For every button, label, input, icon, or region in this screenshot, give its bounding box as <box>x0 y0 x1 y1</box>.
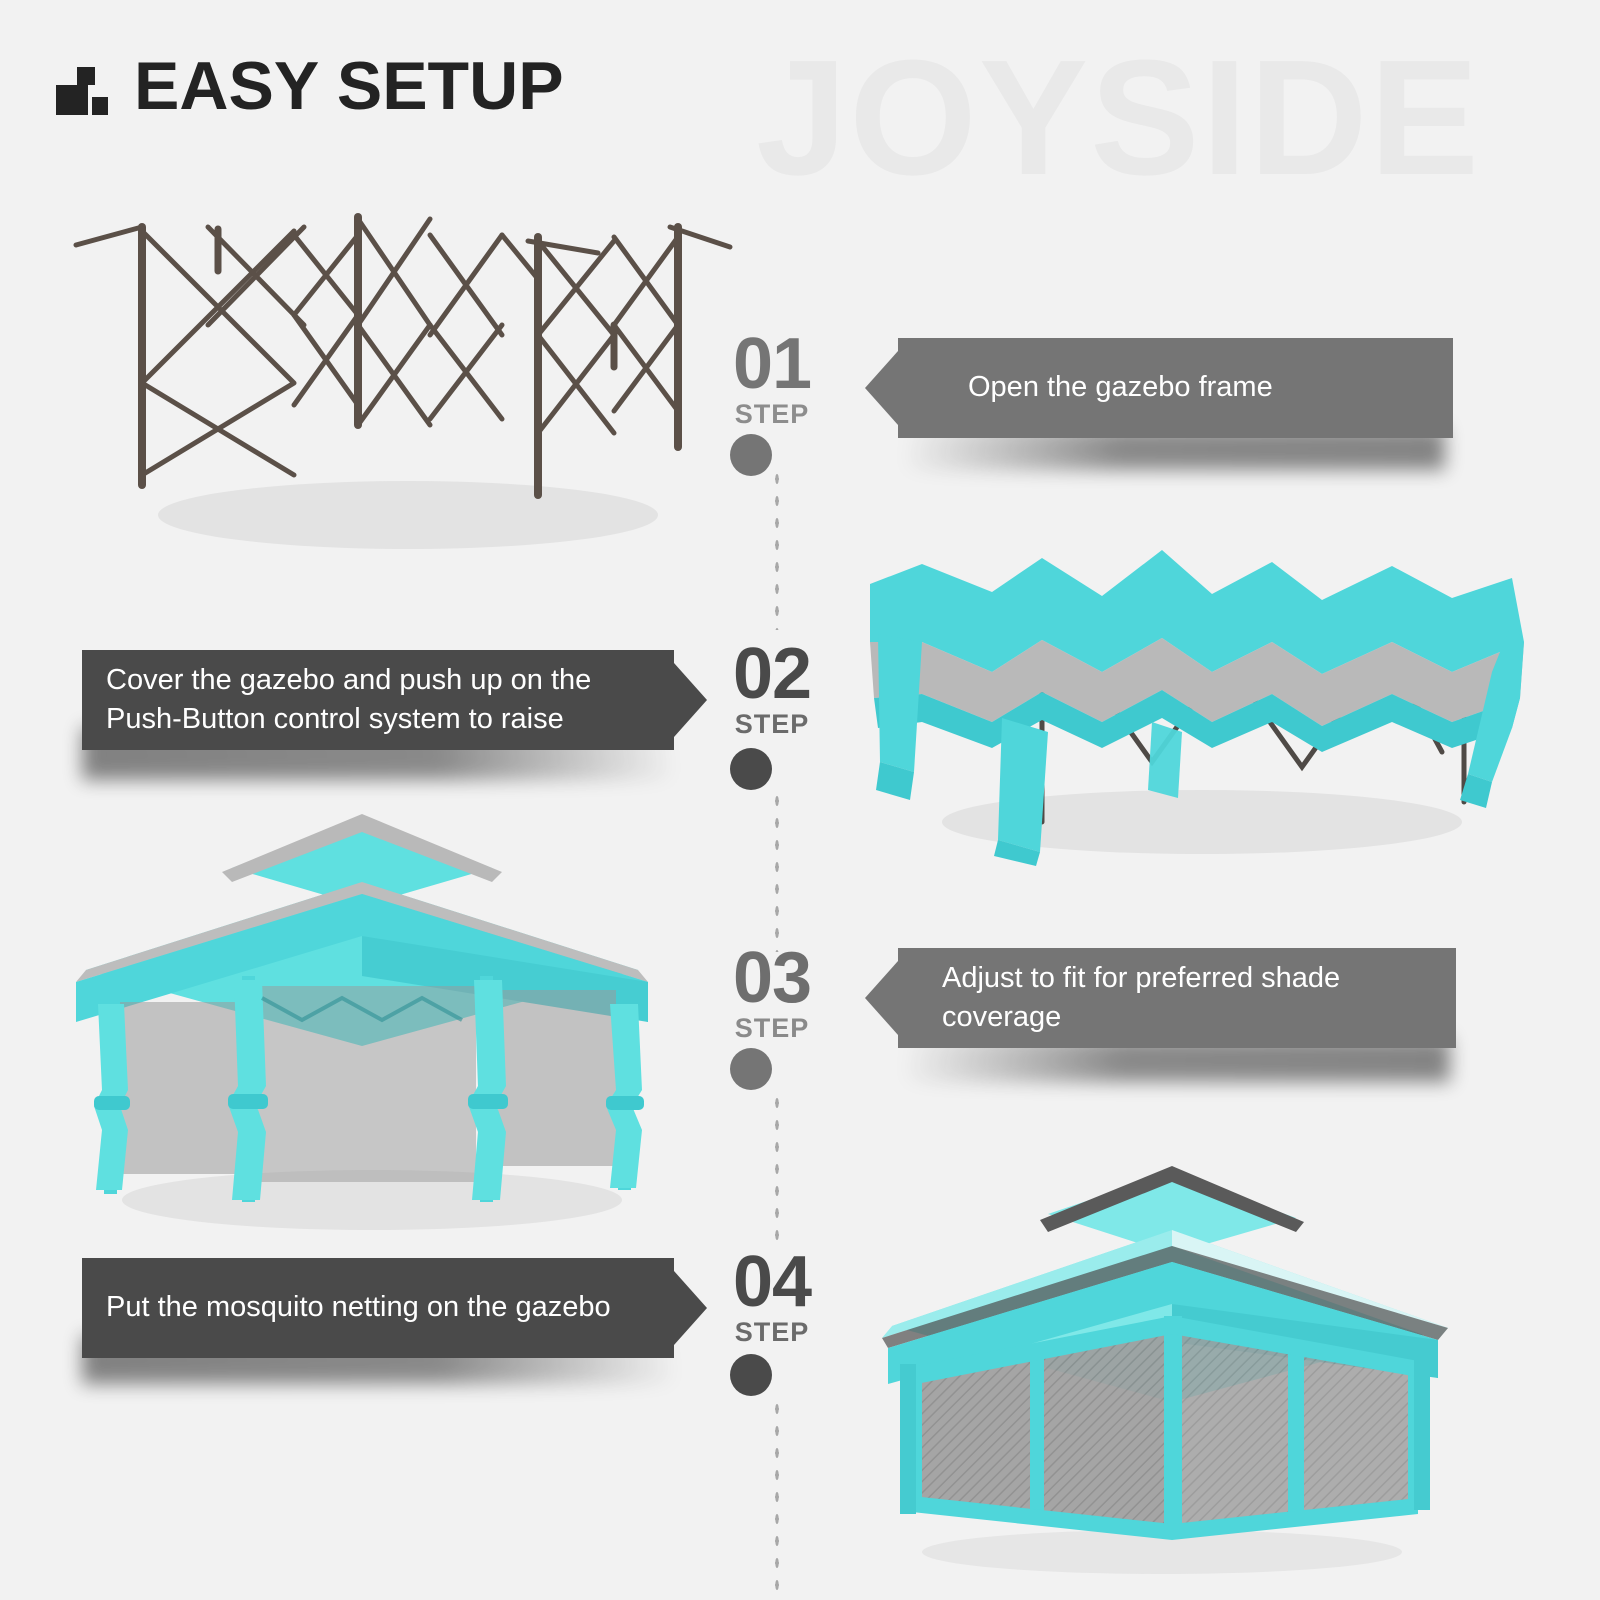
step-01-text: Open the gazebo frame <box>968 368 1273 407</box>
brand-watermark: JOYSIDE <box>756 36 1481 200</box>
step-01-number: 01 <box>702 330 842 398</box>
step-04-callout[interactable]: Put the mosquito netting on the gazebo <box>82 1258 674 1358</box>
step-02-callout[interactable]: Cover the gazebo and push up on the Push… <box>82 650 674 750</box>
step-02-text-line2: Push-Button control system to raise <box>106 703 564 735</box>
step-03-badge: 03 STEP <box>702 944 842 1046</box>
step-03-number: 03 <box>702 944 842 1012</box>
photo-gazebo-netting <box>852 1132 1472 1572</box>
step-03-arrow-icon <box>865 961 898 1035</box>
step-01-callout[interactable]: Open the gazebo frame <box>898 338 1453 438</box>
step-01-label: STEP <box>702 398 842 432</box>
step-04-text: Put the mosquito netting on the gazebo <box>106 1288 611 1327</box>
step-02-label: STEP <box>702 708 842 742</box>
page-header: EASY SETUP <box>56 52 564 120</box>
gazebo-frame-illustration <box>58 175 738 565</box>
step-03-callout[interactable]: Adjust to fit for preferred shade covera… <box>898 948 1456 1048</box>
step-04-badge: 04 STEP <box>702 1248 842 1350</box>
step-03-node <box>730 1048 772 1090</box>
step-04-node <box>730 1354 772 1396</box>
photo-gazebo-frame <box>58 175 738 565</box>
gazebo-netting-illustration <box>852 1132 1472 1572</box>
step-02-badge: 02 STEP <box>702 640 842 742</box>
blocks-icon <box>56 57 108 115</box>
photo-gazebo-raised <box>62 790 682 1240</box>
step-04-number: 04 <box>702 1248 842 1316</box>
timeline-segment-3 <box>773 1092 781 1250</box>
step-04-label: STEP <box>702 1316 842 1350</box>
step-01-arrow-icon <box>865 351 898 425</box>
step-02-arrow-icon <box>674 663 707 737</box>
timeline-segment-2 <box>773 790 781 952</box>
step-02-text-line1: Cover the gazebo and push up on the <box>106 664 591 696</box>
page-title: EASY SETUP <box>134 52 564 120</box>
step-02-node <box>730 748 772 790</box>
step-04-arrow-icon <box>674 1271 707 1345</box>
gazebo-raised-illustration <box>62 790 682 1240</box>
timeline-segment-1 <box>773 468 781 630</box>
step-01-badge: 01 STEP <box>702 330 842 432</box>
step-01-node <box>730 434 772 476</box>
step-03-text: Adjust to fit for preferred shade covera… <box>942 959 1440 1038</box>
step-03-label: STEP <box>702 1012 842 1046</box>
photo-gazebo-draped <box>852 522 1542 872</box>
step-02-text: Cover the gazebo and push up on the Push… <box>106 661 591 740</box>
timeline-segment-4 <box>773 1398 781 1598</box>
step-02-number: 02 <box>702 640 842 708</box>
gazebo-draped-illustration <box>852 522 1542 872</box>
